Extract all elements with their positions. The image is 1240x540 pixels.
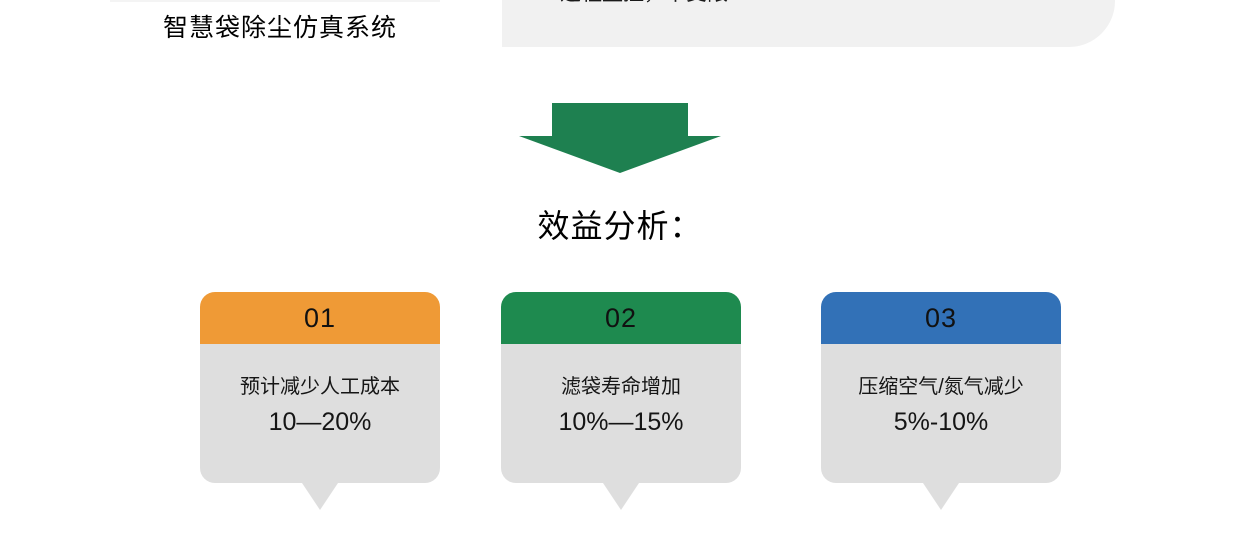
benefit-card-03-number: 03 [821, 292, 1061, 344]
benefit-card-03-line2: 5%-10% [894, 407, 989, 438]
top-divider [110, 0, 440, 2]
down-arrow-icon [519, 103, 721, 173]
benefit-card-01-line2: 10—20% [269, 407, 372, 438]
benefit-card-01-line1: 预计减少人工成本 [240, 375, 400, 400]
benefit-card-02-body: 滤袋寿命增加 10%—15% [501, 344, 741, 483]
feature-panel: 远程监控，不受限 [502, 0, 1115, 47]
section-heading: 效益分析： [0, 201, 1240, 247]
benefit-card-02: 02 滤袋寿命增加 10%—15% [501, 292, 741, 483]
benefit-cards: 01 预计减少人工成本 10—20% 02 滤袋寿命增加 10%—15% 03 … [200, 292, 1070, 522]
feature-panel-item-label: 远程监控，不受限 [560, 0, 728, 7]
benefit-card-01-number: 01 [200, 292, 440, 344]
benefit-card-02-tail [603, 483, 639, 510]
benefit-card-01-tail [302, 483, 338, 510]
benefit-card-01-body: 预计减少人工成本 10—20% [200, 344, 440, 483]
section-heading-label: 效益分析： [537, 208, 702, 244]
benefit-card-03-body: 压缩空气/氮气减少 5%-10% [821, 344, 1061, 483]
page-title: 智慧袋除尘仿真系统 [60, 8, 500, 44]
benefit-card-02-number: 02 [501, 292, 741, 344]
benefit-card-03-line1: 压缩空气/氮气减少 [858, 375, 1024, 400]
benefit-card-02-line1: 滤袋寿命增加 [561, 375, 681, 400]
feature-panel-item: 远程监控，不受限 [530, 0, 728, 7]
benefit-card-03: 03 压缩空气/氮气减少 5%-10% [821, 292, 1061, 483]
benefit-card-01: 01 预计减少人工成本 10—20% [200, 292, 440, 483]
benefit-card-02-line2: 10%—15% [558, 407, 683, 438]
benefit-card-03-tail [923, 483, 959, 510]
